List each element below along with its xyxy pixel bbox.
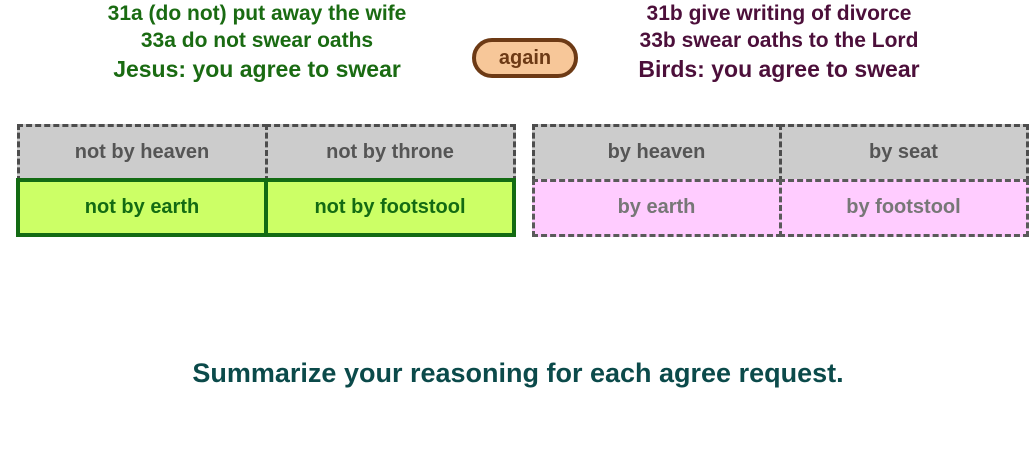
- left-header-block: 31a (do not) put away the wife 33a do no…: [8, 0, 506, 84]
- left-header-line-31a: 31a (do not) put away the wife: [8, 0, 506, 27]
- table-cell[interactable]: not by earth: [16, 178, 268, 237]
- table-cell[interactable]: not by throne: [265, 124, 516, 182]
- summary-caption: Summarize your reasoning for each agree …: [0, 358, 1036, 389]
- table-cell[interactable]: by seat: [779, 124, 1029, 182]
- table-cell[interactable]: not by heaven: [17, 124, 268, 182]
- left-table: not by heaven not by throne not by earth…: [18, 125, 514, 235]
- table-cell[interactable]: by footstool: [779, 179, 1029, 237]
- table-row: not by earth not by footstool: [18, 180, 514, 235]
- table-cell[interactable]: by earth: [532, 179, 782, 237]
- right-header-line-31b: 31b give writing of divorce: [530, 0, 1028, 27]
- table-row: by earth by footstool: [533, 180, 1027, 235]
- left-header-line-33a: 33a do not swear oaths: [8, 27, 506, 54]
- table-row: not by heaven not by throne: [18, 125, 514, 180]
- left-header-subject: Jesus: you agree to swear: [8, 54, 506, 84]
- table-cell[interactable]: not by footstool: [264, 178, 516, 237]
- again-badge: again: [472, 38, 578, 78]
- table-row: by heaven by seat: [533, 125, 1027, 180]
- table-cell[interactable]: by heaven: [532, 124, 782, 182]
- right-header-block: 31b give writing of divorce 33b swear oa…: [530, 0, 1028, 84]
- right-header-line-33b: 33b swear oaths to the Lord: [530, 27, 1028, 54]
- right-table: by heaven by seat by earth by footstool: [533, 125, 1027, 235]
- right-header-subject: Birds: you agree to swear: [530, 54, 1028, 84]
